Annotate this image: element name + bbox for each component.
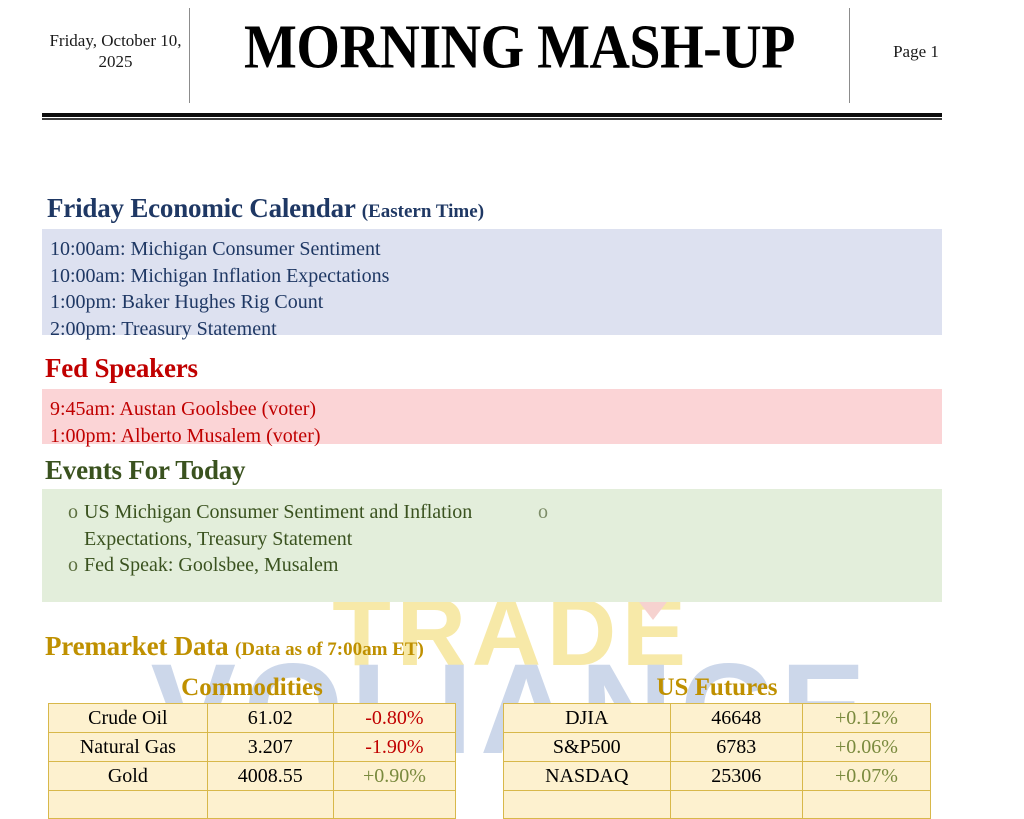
row-value <box>207 791 333 819</box>
calendar-item: 2:00pm: Treasury Statement <box>50 316 942 343</box>
events-column-right: o <box>512 499 942 579</box>
bullet-icon: o <box>538 499 548 526</box>
row-name: DJIA <box>504 704 671 733</box>
newsletter-page: Friday, October 10, 2025 MORNING MASH-UP… <box>0 0 1024 793</box>
list-item: o Fed Speak: Goolsbee, Musalem <box>42 552 512 579</box>
row-name: S&P500 <box>504 733 671 762</box>
us-futures-table: DJIA 46648 +0.12% S&P500 6783 +0.06% NAS… <box>503 703 931 819</box>
row-value <box>670 791 802 819</box>
row-name: Gold <box>49 762 208 791</box>
row-change: +0.90% <box>333 762 455 791</box>
row-name <box>49 791 208 819</box>
masthead-page-number: Page 1 <box>850 8 982 103</box>
row-change: +0.07% <box>802 762 930 791</box>
row-name: NASDAQ <box>504 762 671 791</box>
calendar-heading: Friday Economic Calendar (Eastern Time) <box>47 195 484 222</box>
row-value: 3.207 <box>207 733 333 762</box>
masthead: Friday, October 10, 2025 MORNING MASH-UP… <box>42 8 982 103</box>
masthead-title-text: MORNING MASH-UP <box>244 16 795 79</box>
table-row-partial <box>504 791 931 819</box>
fed-speaker-item: 9:45am: Austan Goolsbee (voter) <box>50 396 942 423</box>
fed-speakers-heading-text: Fed Speakers <box>45 353 198 383</box>
commodities-table: Crude Oil 61.02 -0.80% Natural Gas 3.207… <box>48 703 456 819</box>
row-name: Crude Oil <box>49 704 208 733</box>
masthead-date-text: Friday, October 10, 2025 <box>42 30 189 73</box>
row-value: 61.02 <box>207 704 333 733</box>
events-columns: o US Michigan Consumer Sentiment and Inf… <box>42 496 942 579</box>
row-value: 25306 <box>670 762 802 791</box>
row-change <box>333 791 455 819</box>
masthead-title: MORNING MASH-UP <box>190 8 850 103</box>
row-value: 46648 <box>670 704 802 733</box>
bullet-icon: o <box>68 499 78 526</box>
table-row-partial <box>49 791 456 819</box>
commodities-table-wrap: Commodities Crude Oil 61.02 -0.80% Natur… <box>48 675 456 819</box>
calendar-heading-suffix: (Eastern Time) <box>362 201 484 222</box>
row-name: Natural Gas <box>49 733 208 762</box>
masthead-page-text: Page 1 <box>893 42 939 62</box>
calendar-item: 1:00pm: Baker Hughes Rig Count <box>50 289 942 316</box>
row-change: -0.80% <box>333 704 455 733</box>
events-item-text: US Michigan Consumer Sentiment and Infla… <box>84 499 484 552</box>
fed-speakers-heading: Fed Speakers <box>45 355 198 382</box>
table-row: DJIA 46648 +0.12% <box>504 704 931 733</box>
commodities-table-title: Commodities <box>48 675 456 701</box>
table-row: Crude Oil 61.02 -0.80% <box>49 704 456 733</box>
premarket-heading-suffix: (Data as of 7:00am ET) <box>235 639 424 660</box>
list-item: o US Michigan Consumer Sentiment and Inf… <box>42 499 512 552</box>
row-value: 6783 <box>670 733 802 762</box>
events-column-left: o US Michigan Consumer Sentiment and Inf… <box>42 499 512 579</box>
row-change: +0.12% <box>802 704 930 733</box>
row-change: +0.06% <box>802 733 930 762</box>
masthead-divider-rule <box>42 113 942 120</box>
us-futures-table-wrap: US Futures DJIA 46648 +0.12% S&P500 6783… <box>503 675 931 819</box>
events-heading-text: Events For Today <box>45 455 245 485</box>
events-item-text: Fed Speak: Goolsbee, Musalem <box>84 552 484 579</box>
fed-speakers-block: 9:45am: Austan Goolsbee (voter) 1:00pm: … <box>42 389 942 444</box>
row-change <box>802 791 930 819</box>
us-futures-table-title: US Futures <box>503 675 931 701</box>
calendar-block: 10:00am: Michigan Consumer Sentiment 10:… <box>42 229 942 335</box>
row-value: 4008.55 <box>207 762 333 791</box>
table-row: Natural Gas 3.207 -1.90% <box>49 733 456 762</box>
masthead-date: Friday, October 10, 2025 <box>42 8 190 103</box>
fed-speaker-item: 1:00pm: Alberto Musalem (voter) <box>50 423 942 450</box>
table-row: NASDAQ 25306 +0.07% <box>504 762 931 791</box>
events-heading: Events For Today <box>45 457 245 484</box>
premarket-heading: Premarket Data (Data as of 7:00am ET) <box>45 633 424 660</box>
bullet-icon: o <box>68 552 78 579</box>
calendar-heading-text: Friday Economic Calendar <box>47 193 355 223</box>
events-block: o US Michigan Consumer Sentiment and Inf… <box>42 489 942 602</box>
premarket-heading-text: Premarket Data <box>45 631 228 661</box>
row-change: -1.90% <box>333 733 455 762</box>
calendar-item: 10:00am: Michigan Inflation Expectations <box>50 263 942 290</box>
table-row: Gold 4008.55 +0.90% <box>49 762 456 791</box>
table-row: S&P500 6783 +0.06% <box>504 733 931 762</box>
row-name <box>504 791 671 819</box>
calendar-item: 10:00am: Michigan Consumer Sentiment <box>50 236 942 263</box>
